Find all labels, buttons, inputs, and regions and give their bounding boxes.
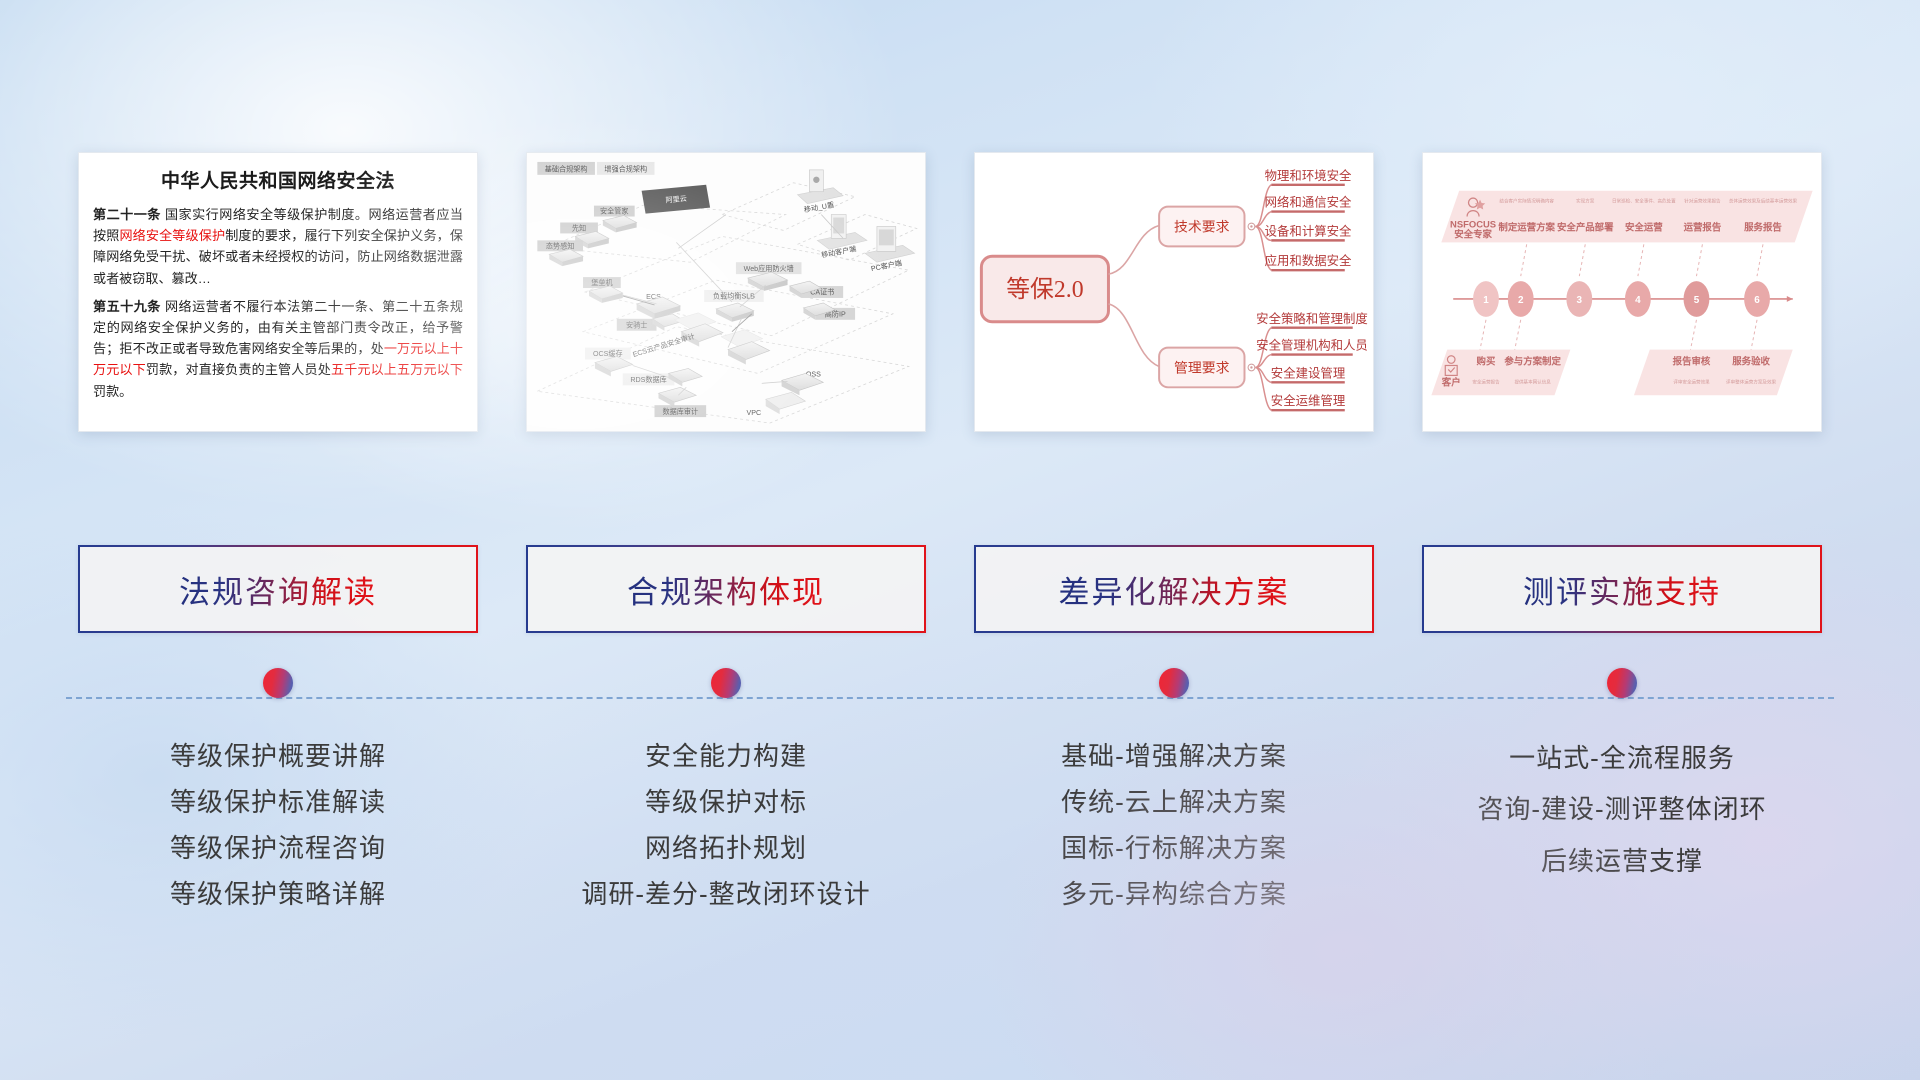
svg-text:OCS缓存: OCS缓存 bbox=[593, 349, 623, 358]
list-item: 传统-云上解决方案 bbox=[1061, 781, 1287, 823]
mindmap-leaf-m3: 安全建设管理 bbox=[1271, 365, 1345, 380]
bottom-step-2-title: 参与方案制定 bbox=[1504, 355, 1561, 366]
timeline-dot-cell-4 bbox=[1422, 668, 1822, 698]
timeline-dot-1[interactable] bbox=[263, 668, 293, 698]
timeline-dots-row bbox=[78, 668, 1822, 698]
svg-text:堡垒机: 堡垒机 bbox=[591, 278, 612, 287]
bottom-step-2-sub: 提供基本网认信息 bbox=[1514, 378, 1551, 385]
top-step-1-sub: 结合客户实际情况明确内容 bbox=[1499, 198, 1554, 205]
timeline-dot-cell-1 bbox=[78, 668, 478, 698]
list-item: 调研-差分-整改闭环设计 bbox=[581, 873, 870, 915]
section-header-1[interactable]: 法规咨询解读 bbox=[78, 545, 478, 633]
mindmap-branch-management: 管理要求 bbox=[1159, 348, 1255, 388]
section-header-4[interactable]: 测评实施支持 bbox=[1422, 545, 1822, 633]
list-item: 国标-行标解决方案 bbox=[1061, 827, 1287, 869]
list-item: 后续运营支撑 bbox=[1541, 838, 1703, 885]
list-item: 一站式-全流程服务 bbox=[1509, 735, 1735, 782]
feature-list-2: 安全能力构建 等级保护对标 网络拓扑规划 调研-差分-整改闭环设计 bbox=[526, 735, 926, 919]
mindmap-leaf-t1: 物理和环境安全 bbox=[1265, 168, 1352, 183]
top-step-2-title: 安全产品部署 bbox=[1557, 221, 1614, 232]
law-article-label-59: 第五十九条 bbox=[93, 299, 161, 314]
bottom-step-1-sub: 安全运营报告 bbox=[1472, 378, 1500, 385]
list-item: 等级保护概要讲解 bbox=[170, 735, 386, 777]
section-header-3-label: 差异化解决方案 bbox=[1059, 567, 1290, 612]
svg-text:安骑士: 安骑士 bbox=[626, 320, 647, 329]
architecture-diagram: 基础合规架构 增强合规架构 阿里云 bbox=[527, 153, 925, 431]
mindmap-leaf-m1: 安全策略和管理制度 bbox=[1256, 311, 1368, 326]
svg-text:管理要求: 管理要求 bbox=[1174, 360, 1230, 376]
bottom-step-4-title: 服务验收 bbox=[1732, 355, 1770, 366]
law-text-59b: 罚款，对直接负责的主管人员处 bbox=[146, 362, 331, 377]
bottom-step-1-title: 购买 bbox=[1477, 355, 1496, 366]
timeline-dot-cell-2 bbox=[526, 668, 926, 698]
top-step-3-sub: 日常巡检、安全事件、高危处置 bbox=[1612, 198, 1676, 205]
top-step-4-sub: 针对运营效果报告 bbox=[1684, 198, 1721, 205]
law-highlight-21: 网络安全等级保护 bbox=[119, 228, 225, 243]
nsfocus-expert-line2: 安全专家 bbox=[1454, 228, 1492, 239]
section-header-2[interactable]: 合规架构体现 bbox=[526, 545, 926, 633]
law-paragraph-21: 第二十一条 国家实行网络安全等级保护制度。网络运营者应当按照网络安全等级保护制度… bbox=[93, 204, 463, 289]
mindmap-branch-technical: 技术要求 bbox=[1159, 207, 1255, 247]
card-mindmap-dengbao[interactable]: 等保2.0 技术要求 bbox=[974, 152, 1374, 432]
svg-text:3: 3 bbox=[1577, 295, 1583, 306]
mindmap-leaf-m2: 安全管理机构和人员 bbox=[1256, 338, 1368, 353]
arch-tab-enhanced[interactable]: 增强合规架构 bbox=[604, 164, 647, 173]
law-highlight-59b: 五千元以上五万元以下 bbox=[331, 362, 463, 377]
mindmap-leaf-t2: 网络和通信安全 bbox=[1265, 195, 1352, 210]
svg-text:先知: 先知 bbox=[572, 223, 586, 232]
svg-text:6: 6 bbox=[1754, 295, 1760, 306]
svg-text:RDS数据库: RDS数据库 bbox=[630, 375, 666, 384]
list-item: 多元-异构综合方案 bbox=[1061, 873, 1287, 915]
top-step-5-title: 服务报告 bbox=[1744, 221, 1782, 232]
slide-canvas: 中华人民共和国网络安全法 第二十一条 国家实行网络安全等级保护制度。网络运营者应… bbox=[0, 0, 1920, 1080]
section-header-4-label: 测评实施支持 bbox=[1523, 567, 1721, 612]
top-step-2-sub: 实现方案 bbox=[1576, 198, 1595, 205]
feature-list-4: 一站式-全流程服务 咨询-建设-测评整体闭环 后续运营支撑 bbox=[1422, 735, 1822, 919]
nsfocus-customer-label: 客户 bbox=[1441, 376, 1461, 387]
law-paragraph-59: 第五十九条 网络运营者不履行本法第二十一条、第二十五条规定的网络安全保护义务的，… bbox=[93, 296, 463, 402]
feature-list-1: 等级保护概要讲解 等级保护标准解读 等级保护流程咨询 等级保护策略详解 bbox=[78, 735, 478, 919]
section-header-3[interactable]: 差异化解决方案 bbox=[974, 545, 1374, 633]
timeline-dot-4[interactable] bbox=[1607, 668, 1637, 698]
feature-list-3: 基础-增强解决方案 传统-云上解决方案 国标-行标解决方案 多元-异构综合方案 bbox=[974, 735, 1374, 919]
svg-text:态势感知: 态势感知 bbox=[546, 241, 575, 250]
list-item: 等级保护策略详解 bbox=[170, 873, 386, 915]
section-header-2-label: 合规架构体现 bbox=[627, 567, 825, 612]
list-item: 等级保护流程咨询 bbox=[170, 827, 386, 869]
bottom-step-4-sub: 评审整体运营方案及效果 bbox=[1726, 378, 1776, 385]
cards-row: 中华人民共和国网络安全法 第二十一条 国家实行网络安全等级保护制度。网络运营者应… bbox=[78, 152, 1822, 432]
law-text-59c: 罚款。 bbox=[93, 384, 132, 399]
svg-text:4: 4 bbox=[1635, 295, 1641, 306]
nsfocus-timeline-diagram: NSFOCUS 安全专家 结合客户实际情况明确内容 制定运营方案 实现方案 安全… bbox=[1423, 153, 1821, 431]
top-step-1-title: 制定运营方案 bbox=[1498, 221, 1555, 232]
mindmap-leaf-m4: 安全运维管理 bbox=[1271, 393, 1345, 408]
svg-text:Web应用防火墙: Web应用防火墙 bbox=[744, 264, 794, 273]
list-item: 咨询-建设-测评整体闭环 bbox=[1477, 786, 1766, 833]
bottom-step-3-title: 报告审核 bbox=[1673, 355, 1711, 366]
svg-text:5: 5 bbox=[1694, 295, 1700, 306]
svg-text:等保2.0: 等保2.0 bbox=[1006, 276, 1083, 303]
law-title: 中华人民共和国网络安全法 bbox=[93, 166, 463, 193]
mindmap-diagram: 等保2.0 技术要求 bbox=[975, 153, 1373, 431]
timeline-dot-2[interactable] bbox=[711, 668, 741, 698]
card-cloud-architecture[interactable]: 基础合规架构 增强合规架构 阿里云 bbox=[526, 152, 926, 432]
law-article-label-21: 第二十一条 bbox=[93, 207, 161, 222]
svg-text:安全管家: 安全管家 bbox=[600, 207, 629, 216]
mindmap-root: 等保2.0 bbox=[981, 256, 1108, 322]
svg-text:VPC: VPC bbox=[746, 409, 761, 417]
card-nsfocus-timeline[interactable]: NSFOCUS 安全专家 结合客户实际情况明确内容 制定运营方案 实现方案 安全… bbox=[1422, 152, 1822, 432]
svg-text:技术要求: 技术要求 bbox=[1174, 219, 1230, 235]
svg-text:1: 1 bbox=[1483, 295, 1489, 306]
top-step-5-sub: 总体运营效果及后续基本运营效果 bbox=[1729, 198, 1798, 205]
bottom-step-3-sub: 评审安全运营效果 bbox=[1673, 378, 1710, 385]
arch-tab-basic[interactable]: 基础合规架构 bbox=[545, 164, 588, 173]
timeline-dot-3[interactable] bbox=[1159, 668, 1189, 698]
mindmap-leaf-t3: 设备和计算安全 bbox=[1265, 223, 1352, 238]
svg-text:2: 2 bbox=[1518, 295, 1524, 306]
svg-text:数据库审计: 数据库审计 bbox=[663, 407, 699, 416]
list-item: 基础-增强解决方案 bbox=[1061, 735, 1287, 777]
section-headers-row: 法规咨询解读 合规架构体现 差异化解决方案 测评实施支持 bbox=[78, 545, 1822, 633]
section-header-1-label: 法规咨询解读 bbox=[179, 567, 377, 612]
arch-cloud-label: 阿里云 bbox=[665, 194, 687, 205]
mindmap-leaf-t4: 应用和数据安全 bbox=[1265, 253, 1352, 268]
list-item: 网络拓扑规划 bbox=[645, 827, 807, 869]
list-item: 等级保护标准解读 bbox=[170, 781, 386, 823]
feature-lists-row: 等级保护概要讲解 等级保护标准解读 等级保护流程咨询 等级保护策略详解 安全能力… bbox=[78, 735, 1822, 919]
card-cybersecurity-law[interactable]: 中华人民共和国网络安全法 第二十一条 国家实行网络安全等级保护制度。网络运营者应… bbox=[78, 152, 478, 432]
top-step-4-title: 运营报告 bbox=[1684, 221, 1722, 232]
timeline-dot-cell-3 bbox=[974, 668, 1374, 698]
list-item: 安全能力构建 bbox=[645, 735, 807, 777]
top-step-3-title: 安全运营 bbox=[1625, 221, 1663, 232]
list-item: 等级保护对标 bbox=[645, 781, 807, 823]
